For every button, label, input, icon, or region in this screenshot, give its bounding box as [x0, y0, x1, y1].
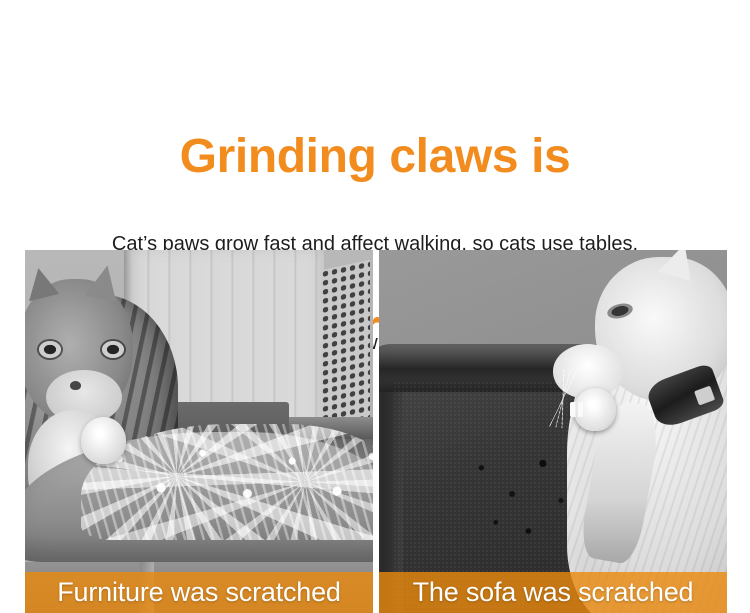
tabby-cat-paw [81, 417, 126, 464]
tabby-cat-ear-right [84, 262, 122, 302]
caption-furniture-scratched: Furniture was scratched [25, 572, 373, 613]
tabby-cat-nose [70, 381, 81, 390]
cat-claws [570, 402, 587, 417]
tabby-cat-eye-right [102, 341, 124, 358]
sofa-scratched-photo [379, 250, 727, 613]
promo-banner: Grinding claws is the nature of cats Cat… [0, 0, 750, 613]
caption-sofa-scratched: The sofa was scratched [379, 572, 727, 613]
photo-panel-sofa: The sofa was scratched [379, 250, 727, 613]
photo-panel-furniture: Furniture was scratched [25, 250, 373, 613]
furniture-scratched-photo [25, 250, 373, 613]
tabby-cat-eye-left [39, 341, 61, 358]
photo-panel-group: Furniture was scratched [25, 250, 727, 613]
